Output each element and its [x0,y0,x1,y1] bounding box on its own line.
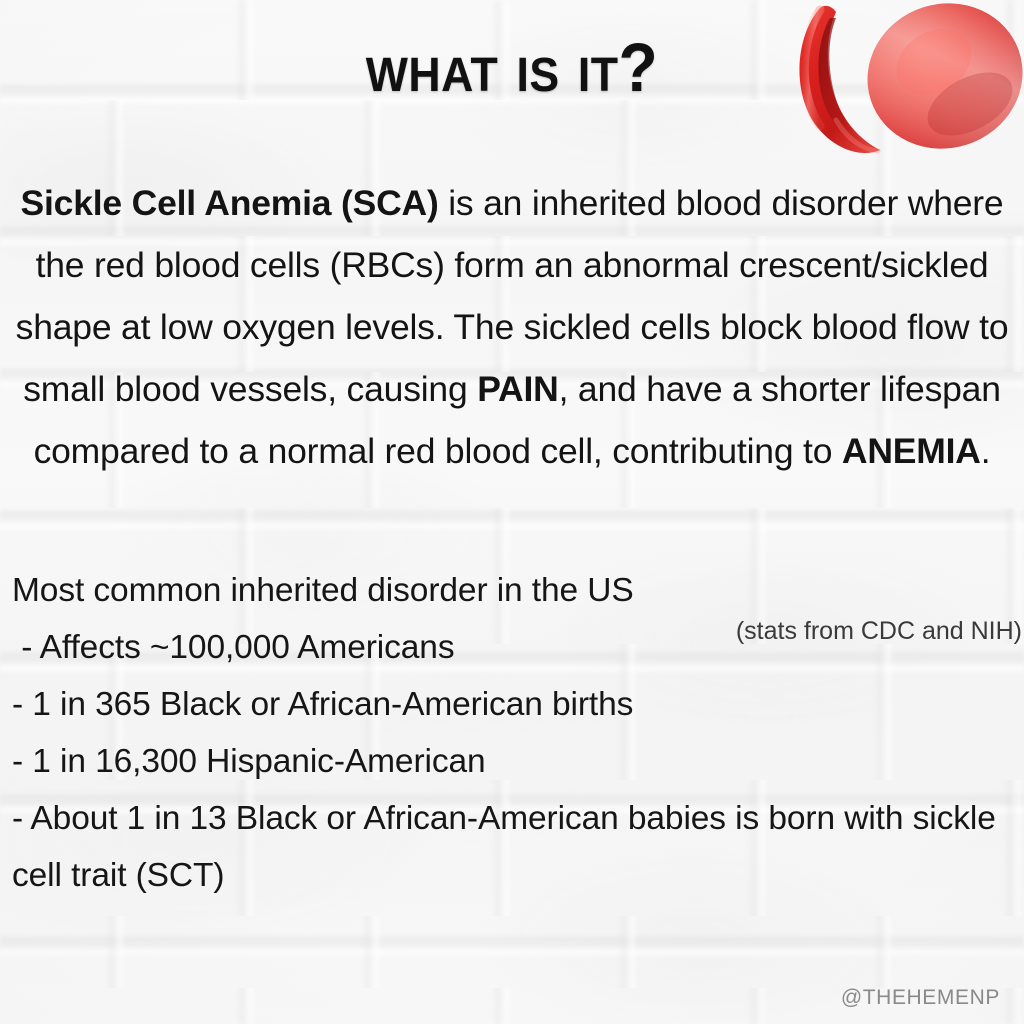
stat-item-hispanic: - 1 in 16,300 Hispanic-American [12,733,1012,790]
page-title: What is it? [36,33,988,102]
paragraph-text-part-3: . [981,431,991,471]
infographic-poster: What is it? Sickle Cell Anemia (SCA) is … [0,0,1024,1024]
statistics-heading: Most common inherited disorder in the US [12,562,1012,619]
source-note: (stats from CDC and NIH) [736,616,1022,646]
paragraph-lead-term: Sickle Cell Anemia (SCA) [21,183,439,223]
stat-item-sickle-cell-trait: - About 1 in 13 Black or African-America… [12,790,1012,904]
description-paragraph: Sickle Cell Anemia (SCA) is an inherited… [12,172,1012,482]
watermark-handle: @THEHEMENP [841,986,1000,1010]
poster-content: What is it? Sickle Cell Anemia (SCA) is … [0,0,1024,1024]
stat-item-black-births: - 1 in 365 Black or African-American bir… [12,676,1012,733]
paragraph-emphasis-anemia: ANEMIA [842,431,981,471]
paragraph-emphasis-pain: PAIN [477,369,558,409]
statistics-list: Most common inherited disorder in the US… [12,562,1012,904]
